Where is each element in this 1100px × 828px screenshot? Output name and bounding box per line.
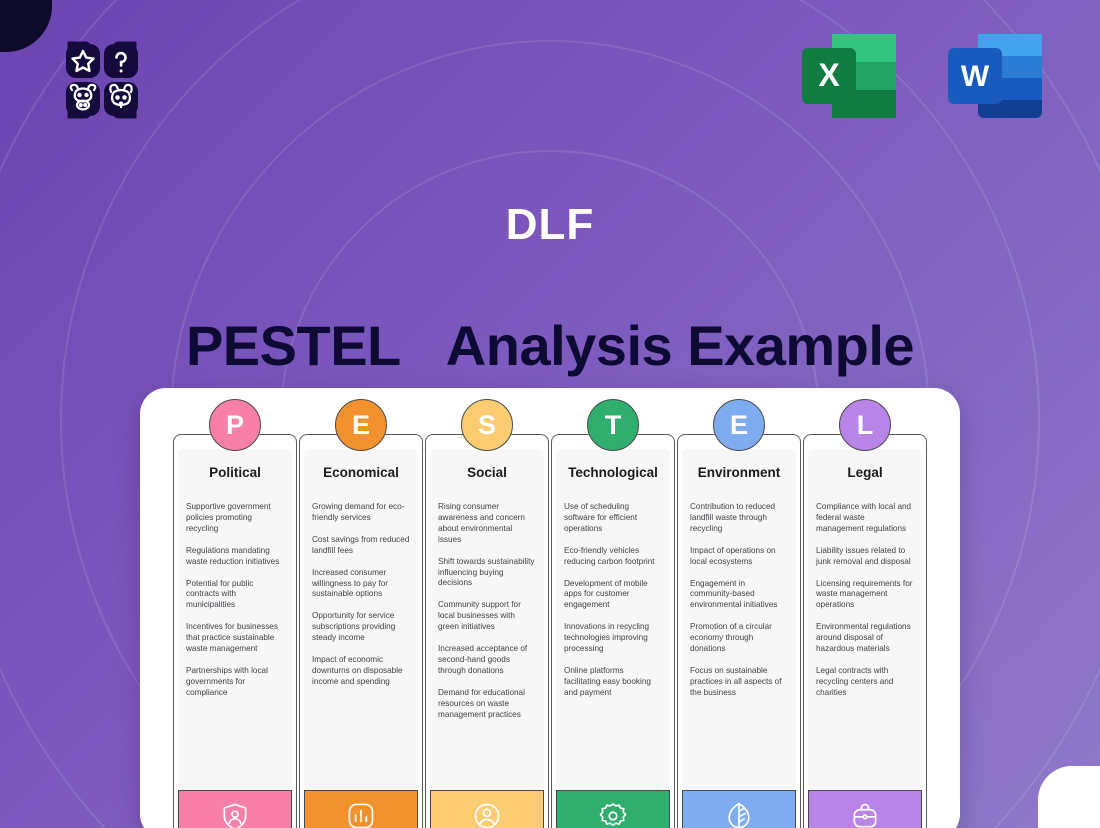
leaf-icon [723,800,755,828]
title-part-2: Analysis Example [446,314,914,377]
column-icon-panel[interactable] [178,790,292,828]
column-point: Growing demand for eco-friendly services [312,502,410,524]
bar-chart-icon [345,800,377,828]
column-point: Potential for public contracts with muni… [186,579,284,612]
poster-canvas: X W DLF PESTEL Analysis Example PPolitic… [0,0,1100,828]
column-letter-badge: L [839,399,891,451]
column-icon-panel[interactable] [430,790,544,828]
word-icon[interactable]: W [946,28,1044,124]
column-point: Liability issues related to junk removal… [816,546,914,568]
column-point: Promotion of a circular economy through … [690,622,788,655]
column-icon-panel[interactable] [808,790,922,828]
column-title: Legal [816,465,914,480]
column-point: Impact of economic downturns on disposab… [312,655,410,688]
column-point: Increased acceptance of second-hand good… [438,644,536,677]
excel-icon[interactable]: X [800,28,898,124]
column-point: Compliance with local and federal waste … [816,502,914,535]
column-icon-panel[interactable] [304,790,418,828]
person-circle-icon [471,800,503,828]
column-title: Environment [690,465,788,480]
column-point: Legal contracts with recycling centers a… [816,666,914,699]
column-point: Licensing requirements for waste managem… [816,579,914,612]
column-point: Engagement in community-based environmen… [690,579,788,612]
column-body: LegalCompliance with local and federal w… [808,449,922,790]
column-body: PoliticalSupportive government policies … [178,449,292,790]
column-point-list: Use of scheduling software for efficient… [564,502,662,699]
column-point: Increased consumer willingness to pay fo… [312,568,410,601]
column-point: Supportive government policies promoting… [186,502,284,535]
column-point-list: Growing demand for eco-friendly services… [312,502,410,688]
page-title: PESTEL Analysis Example [0,313,1100,378]
column-point: Eco-friendly vehicles reducing carbon fo… [564,546,662,568]
column-point: Regulations mandating waste reduction in… [186,546,284,568]
column-icon-panel[interactable] [682,790,796,828]
column-point: Online platforms facilitating easy booki… [564,666,662,699]
column-point: Cost savings from reduced landfill fees [312,535,410,557]
brand-logo[interactable] [48,26,156,134]
column-point: Innovations in recycling technologies im… [564,622,662,655]
column-letter-badge: E [713,399,765,451]
column-title: Technological [564,465,662,480]
pestel-card: PPoliticalSupportive government policies… [140,388,960,828]
column-body: TechnologicalUse of scheduling software … [556,449,670,790]
column-point-list: Compliance with local and federal waste … [816,502,914,699]
column-point-list: Supportive government policies promoting… [186,502,284,699]
pestel-column-economical[interactable]: EEconomicalGrowing demand for eco-friend… [299,434,423,828]
column-point: Shift towards sustainability influencing… [438,557,536,590]
column-point: Contribution to reduced landfill waste t… [690,502,788,535]
column-point: Demand for educational resources on wast… [438,688,536,721]
column-point: Use of scheduling software for efficient… [564,502,662,535]
corner-accent-top-left [0,0,52,52]
corner-accent-bottom-right [1038,766,1100,828]
column-body: EnvironmentContribution to reduced landf… [682,449,796,790]
column-point: Incentives for businesses that practice … [186,622,284,655]
column-point: Environmental regulations around disposa… [816,622,914,655]
column-point: Partnerships with local governments for … [186,666,284,699]
svg-text:W: W [961,60,990,93]
column-point-list: Rising consumer awareness and concern ab… [438,502,536,721]
pestel-column-legal[interactable]: LLegalCompliance with local and federal … [803,434,927,828]
column-point: Community support for local businesses w… [438,600,536,633]
brand-eyebrow: DLF [0,200,1100,250]
column-point: Opportunity for service subscriptions pr… [312,611,410,644]
column-letter-badge: E [335,399,387,451]
pestel-column-social[interactable]: SSocialRising consumer awareness and con… [425,434,549,828]
column-body: SocialRising consumer awareness and conc… [430,449,544,790]
pestel-column-political[interactable]: PPoliticalSupportive government policies… [173,434,297,828]
briefcase-icon [849,800,881,828]
column-letter-badge: S [461,399,513,451]
column-point: Rising consumer awareness and concern ab… [438,502,536,546]
column-letter-badge: T [587,399,639,451]
scanner-frame-icons-logo [48,26,156,134]
column-title: Social [438,465,536,480]
title-part-1: PESTEL [186,314,400,377]
office-app-icons: X W [800,28,1044,124]
column-body: EconomicalGrowing demand for eco-friendl… [304,449,418,790]
column-point: Focus on sustainable practices in all as… [690,666,788,699]
column-letter-badge: P [209,399,261,451]
column-point: Impact of operations on local ecosystems [690,546,788,568]
shield-person-icon [219,800,251,828]
column-point-list: Contribution to reduced landfill waste t… [690,502,788,699]
column-point: Development of mobile apps for customer … [564,579,662,612]
gear-icon [597,800,629,828]
column-icon-panel[interactable] [556,790,670,828]
column-title: Economical [312,465,410,480]
pestel-column-technological[interactable]: TTechnologicalUse of scheduling software… [551,434,675,828]
column-title: Political [186,465,284,480]
pestel-column-environment[interactable]: EEnvironmentContribution to reduced land… [677,434,801,828]
svg-text:X: X [818,57,840,93]
